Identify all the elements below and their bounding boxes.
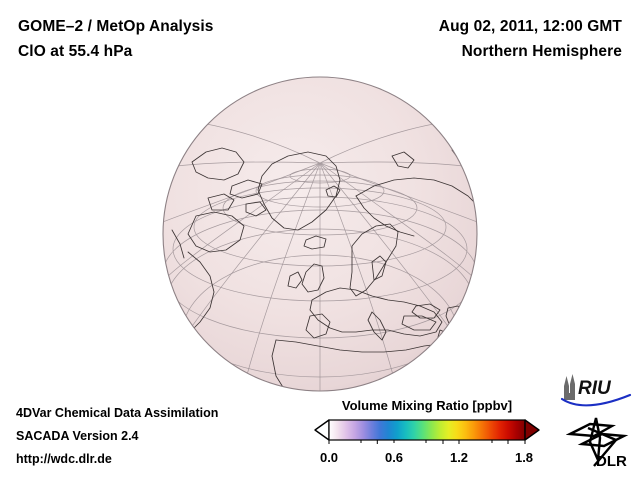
colorbar-body — [329, 420, 525, 440]
colorbar-gradient — [312, 418, 542, 444]
colorbar-extend-left — [315, 420, 329, 440]
credit-line-version: SACADA Version 2.4 — [16, 425, 218, 448]
colorbar-tickmarks — [329, 440, 525, 444]
cathedral-spire-icon — [564, 374, 575, 400]
colorbar-title: Volume Mixing Ratio [ppbv] — [312, 398, 542, 413]
colorbar-extend-right — [525, 420, 539, 440]
dlr-wordmark: DLR — [596, 453, 627, 470]
footer-credits: 4DVar Chemical Data Assimilation SACADA … — [16, 402, 218, 471]
riu-wordmark: RIU — [578, 378, 612, 399]
colorbar-tick-0: 0.0 — [320, 450, 338, 465]
colorbar-tick-labels: 0.0 0.6 1.2 1.8 — [312, 450, 542, 470]
credit-line-url: http://wdc.dlr.de — [16, 448, 218, 471]
colorbar-tick-3: 1.8 — [515, 450, 533, 465]
credit-line-method: 4DVar Chemical Data Assimilation — [16, 402, 218, 425]
dlr-logo: DLR DLR — [566, 414, 632, 477]
colorbar-tick-2: 1.2 — [450, 450, 468, 465]
riu-logo: RIU RIU — [558, 372, 634, 413]
colorbar: Volume Mixing Ratio [ppbv] — [312, 398, 542, 470]
riu-logo-svg: RIU — [558, 372, 634, 408]
dlr-logo-svg: DLR — [566, 414, 632, 472]
figure-canvas: GOME–2 / MetOp Analysis ClO at 55.4 hPa … — [0, 0, 640, 480]
colorbar-tick-1: 0.6 — [385, 450, 403, 465]
